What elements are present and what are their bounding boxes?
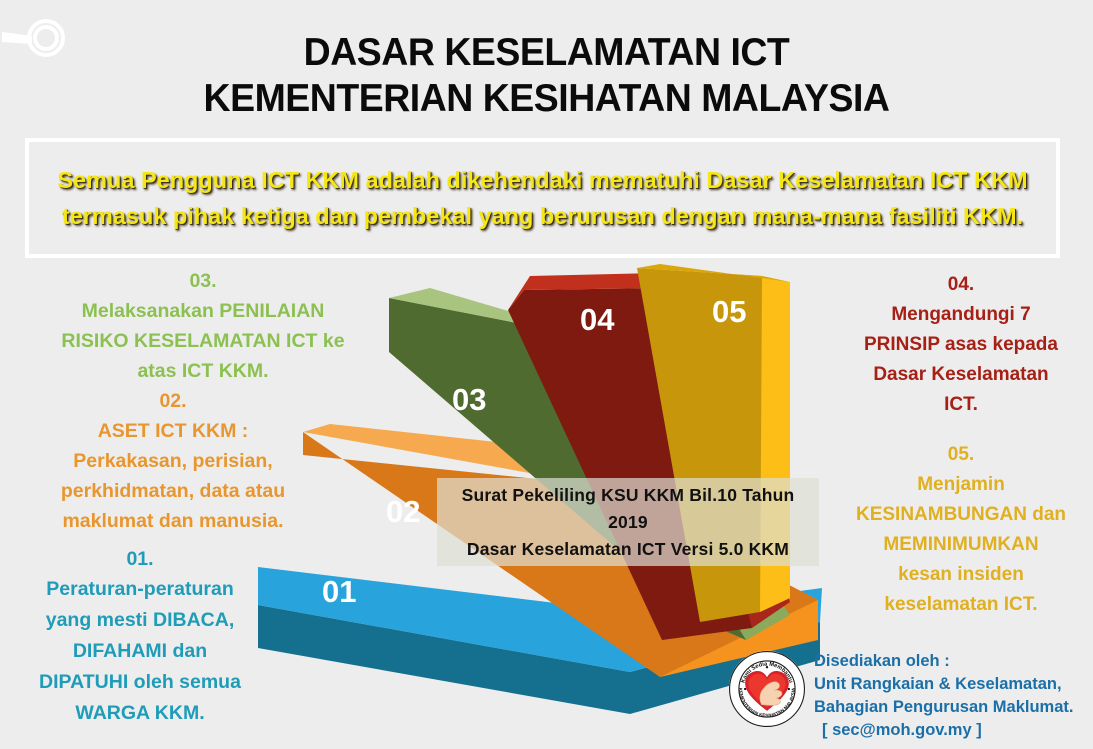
fan-bar-01-label: 01	[322, 574, 356, 609]
footer-line-2: Unit Rangkaian & Keselamatan,	[814, 673, 1073, 696]
item-04-body: Mengandungi 7 PRINSIP asas kepada Dasar …	[832, 300, 1090, 420]
item-05-number: 05.	[832, 440, 1090, 470]
fan-bar-05-label: 05	[712, 294, 746, 329]
item-03-text-block: 03. Melaksanakan PENILAIAN RISIKO KESELA…	[14, 266, 392, 386]
item-01-body: Peraturan-peraturan yang mesti DIBACA, D…	[0, 574, 280, 729]
infographic-canvas: DASAR KESELAMATAN ICT KEMENTERIAN KESIHA…	[0, 0, 1093, 749]
item-02-text-block: 02. ASET ICT KKM : Perkakasan, perisian,…	[8, 386, 338, 536]
item-05-body: Menjamin KESINAMBUNGAN dan MEMINIMUMKAN …	[832, 470, 1090, 620]
circular-reference-caption: Surat Pekeliling KSU KKM Bil.10 Tahun 20…	[437, 478, 819, 566]
fan-bar-02-label: 02	[386, 494, 420, 529]
fan-bar-04-label: 04	[580, 302, 615, 337]
moh-malaysia-heart-hand-logo: Kami Sedia Membantu KEMENTERIAN KESIHATA…	[728, 646, 806, 732]
footer-text-block: Disediakan oleh : Unit Rangkaian & Kesel…	[814, 650, 1073, 742]
item-02-body: ASET ICT KKM : Perkakasan, perisian, per…	[8, 416, 338, 536]
item-04-number: 04.	[832, 270, 1090, 300]
caption-line-3: Dasar Keselamatan ICT Versi 5.0 KKM	[467, 539, 789, 559]
footer-email[interactable]: [ sec@moh.gov.my ]	[814, 719, 1073, 742]
item-03-number: 03.	[14, 266, 392, 296]
item-03-body: Melaksanakan PENILAIAN RISIKO KESELAMATA…	[14, 296, 392, 386]
footer-credit: Kami Sedia Membantu KEMENTERIAN KESIHATA…	[728, 646, 1088, 746]
caption-line-2: 2019	[608, 512, 648, 532]
item-02-number: 02.	[8, 386, 338, 416]
item-05-text-block: 05. Menjamin KESINAMBUNGAN dan MEMINIMUM…	[832, 440, 1090, 620]
item-01-text-block: 01. Peraturan-peraturan yang mesti DIBAC…	[0, 544, 280, 729]
fan-bar-03-label: 03	[452, 382, 486, 417]
footer-line-1: Disediakan oleh :	[814, 650, 1073, 673]
footer-line-3: Bahagian Pengurusan Maklumat.	[814, 696, 1073, 719]
item-04-text-block: 04. Mengandungi 7 PRINSIP asas kepada Da…	[832, 270, 1090, 420]
item-01-number: 01.	[0, 544, 280, 574]
caption-line-1: Surat Pekeliling KSU KKM Bil.10 Tahun	[462, 485, 795, 505]
